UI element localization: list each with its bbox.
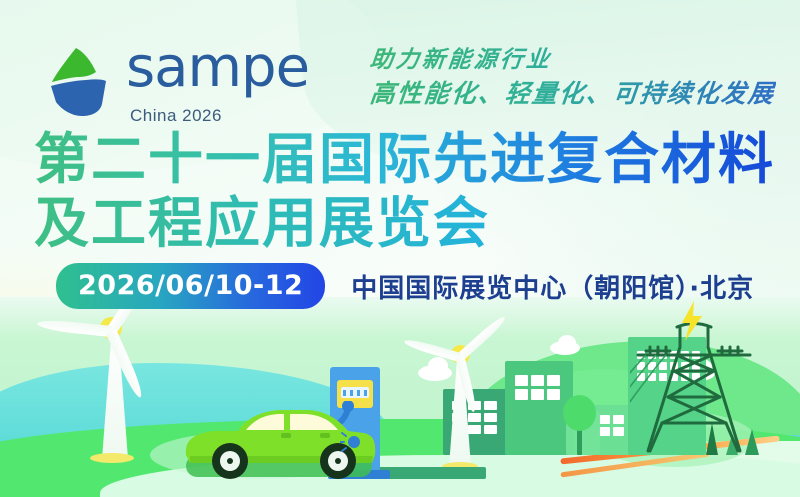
event-date-badge: 2026/06/10-12 [56,263,325,309]
illustration-scene [0,297,800,497]
turbine-blade [37,318,112,337]
title-line-2: 及工程应用展览会 [34,191,775,255]
turbine-base [90,453,134,463]
event-info-row: 2026/06/10-12 中国国际展览中心（朝阳馆）·北京 [56,263,754,309]
slogan-line-2: 高性能化、轻量化、可持续化发展 [368,78,776,109]
sampe-logo[interactable]: sampe China 2026 [46,40,309,126]
page-title: 第二十一届国际先进复合材料 及工程应用展览会 [34,127,775,255]
slogan-line-1: 助力新能源行业 [368,44,776,75]
slogan-block: 助力新能源行业 高性能化、轻量化、可持续化发展 [370,44,775,109]
event-venue-label: 中国国际展览中心（朝阳馆）·北京 [351,268,754,305]
car-hubcap [335,458,341,464]
sampe-logo-mark-icon [46,46,112,120]
car-hubcap [227,458,233,464]
wind-turbine-large [40,297,190,459]
sampe-logo-text: sampe [126,40,309,96]
turbine-platform [378,467,486,479]
charge-spark-icon [340,429,366,455]
event-poster: sampe China 2026 助力新能源行业 高性能化、轻量化、可持续化发展… [0,0,800,497]
sampe-logo-subtitle: China 2026 [130,106,309,126]
cloud-icon [558,335,576,350]
wind-turbine-small [400,327,520,467]
title-line-1: 第二十一届国际先进复合材料 [34,127,775,191]
electric-car-icon [180,393,380,485]
tree-icon [563,395,596,431]
sampe-wordmark: sampe China 2026 [126,40,309,126]
